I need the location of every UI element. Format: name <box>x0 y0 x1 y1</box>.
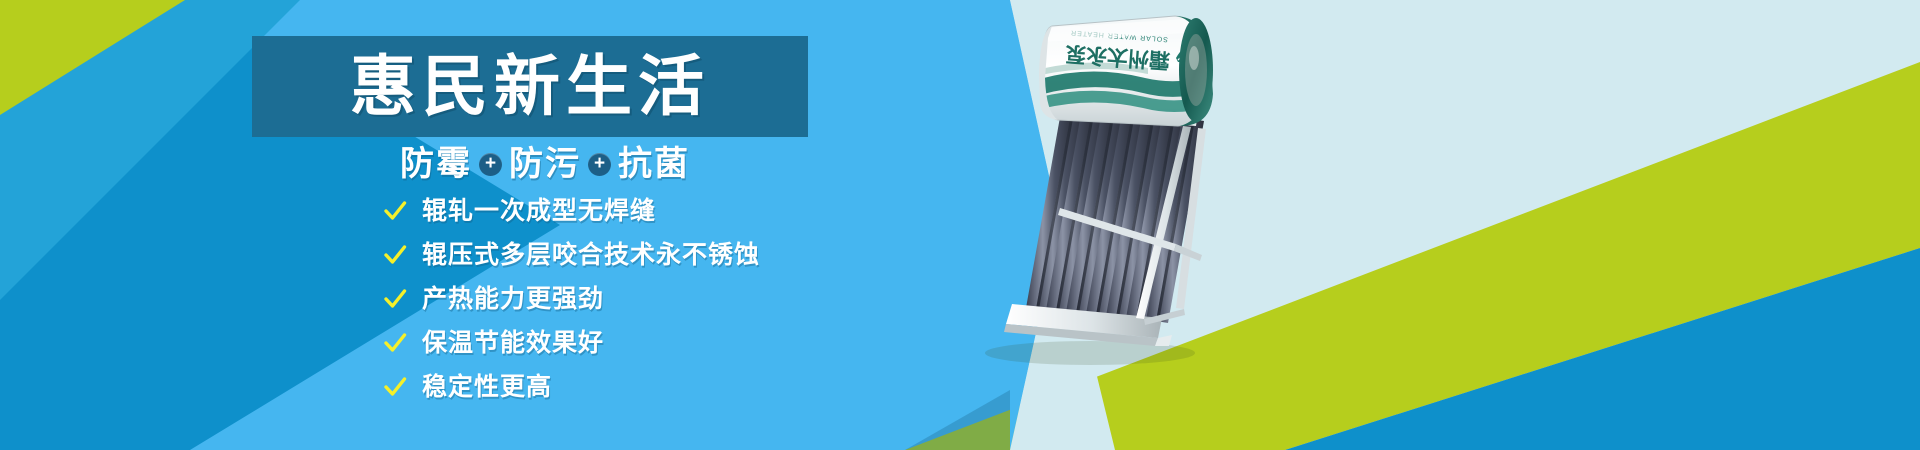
check-icon <box>383 331 407 355</box>
check-icon <box>383 199 407 223</box>
tank-cap-inner <box>1185 34 1207 106</box>
feature-label: 辊轧一次成型无焊缝 <box>422 199 656 224</box>
feature-label: 辊压式多层咬合技术永不锈蚀 <box>422 243 760 268</box>
feature-item: 辊压式多层咬合技术永不锈蚀 <box>383 239 760 271</box>
headline-text: 惠民新生活 <box>350 53 710 119</box>
feature-list: 辊轧一次成型无焊缝 辊压式多层咬合技术永不锈蚀 产热能力更强劲 保温节能效果好 <box>383 195 760 403</box>
solar-water-heater-illustration: 霜州太永泵 SOLAR WATER HEATER <box>940 8 1270 368</box>
subtitle-word-2: 防污 <box>509 147 581 181</box>
feature-label: 稳定性更高 <box>422 375 552 400</box>
plus-glyph-2: + <box>594 154 605 173</box>
check-icon <box>383 287 407 311</box>
feature-label: 产热能力更强劲 <box>422 287 604 312</box>
subtitle-word-3: 抗菌 <box>618 147 690 181</box>
storage-tank: 霜州太永泵 SOLAR WATER HEATER <box>1036 16 1213 126</box>
headline-box: 惠民新生活 <box>252 36 808 137</box>
feature-item: 稳定性更高 <box>383 371 760 403</box>
plus-badge-icon-1: + <box>479 153 502 176</box>
check-icon <box>383 243 407 267</box>
evacuated-tube-array <box>1026 106 1204 323</box>
feature-label: 保温节能效果好 <box>422 331 604 356</box>
subtitle-word-1: 防霉 <box>400 147 472 181</box>
feature-item: 产热能力更强劲 <box>383 283 760 315</box>
promotional-banner: 惠民新生活 防霉 + 防污 + 抗菌 辊轧一次成型无焊缝 辊压式多层咬合技术永不… <box>0 0 1920 450</box>
feature-item: 辊轧一次成型无焊缝 <box>383 195 760 227</box>
subtitle-row: 防霉 + 防污 + 抗菌 <box>380 140 710 188</box>
product-image: 霜州太永泵 SOLAR WATER HEATER <box>940 8 1270 368</box>
plus-badge-icon-2: + <box>588 153 611 176</box>
plus-glyph-1: + <box>485 154 496 173</box>
tank-cap-highlight <box>1189 46 1199 70</box>
feature-item: 保温节能效果好 <box>383 327 760 359</box>
check-icon <box>383 375 407 399</box>
